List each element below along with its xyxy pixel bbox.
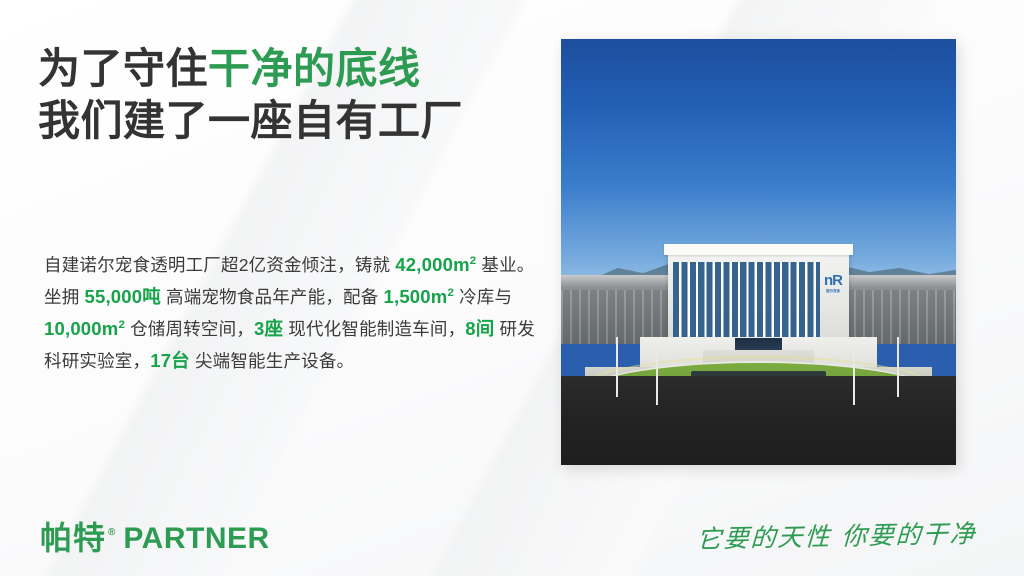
photo-building-logo-sub: 诺尔宠食 bbox=[822, 290, 844, 294]
photo-building-roof-cap bbox=[664, 244, 853, 255]
photo-building-logo-mark: nR bbox=[822, 273, 844, 288]
p2-text-g: 尖端智能生产设备。 bbox=[190, 351, 354, 371]
brand-logo: 帕特 ® PARTNER bbox=[40, 522, 270, 554]
body-paragraph-2: 坐拥 55,000吨 高端宠物食品年产能，配备 1,500m2 冷库与 10,0… bbox=[44, 281, 542, 377]
brand-tagline: 它要的天性 你要的干净 bbox=[696, 514, 978, 556]
page-title: 为了守住干净的底线 我们建了一座自有工厂 bbox=[38, 43, 538, 147]
stat-annual-capacity: 55,000吨 bbox=[84, 286, 160, 307]
photo-light-pole bbox=[853, 346, 855, 406]
photo-light-pole bbox=[616, 337, 618, 397]
stat-cold-storage: 1,500m2 bbox=[383, 286, 454, 307]
photo-light-pole bbox=[656, 346, 658, 406]
stat-warehouse-value: 10,000m bbox=[44, 318, 118, 339]
headline-line-1-plain: 为了守住 bbox=[38, 45, 208, 92]
headline-line-1: 为了守住干净的底线 bbox=[38, 43, 538, 95]
body-copy: 自建诺尔宠食透明工厂超2亿资金倾注，铸就 42,000m2 基业。 坐拥 55,… bbox=[44, 249, 542, 377]
brand-name-cn: 帕特 bbox=[40, 522, 106, 554]
photo-building-logo: nR 诺尔宠食 bbox=[822, 273, 844, 306]
photo-building-windows bbox=[673, 262, 820, 344]
factory-photo: nR 诺尔宠食 bbox=[561, 39, 956, 465]
stat-warehouse: 10,000m2 bbox=[44, 318, 125, 339]
stat-factory-area-value: 42,000m bbox=[395, 254, 469, 275]
p2-text-d: 仓储周转空间， bbox=[125, 319, 254, 339]
body-paragraph-1: 自建诺尔宠食透明工厂超2亿资金倾注，铸就 42,000m2 基业。 bbox=[44, 249, 542, 281]
p2-text-e: 现代化智能制造车间， bbox=[283, 319, 465, 339]
photo-warehouse-right bbox=[845, 275, 956, 343]
photo-warehouse-left bbox=[561, 275, 680, 343]
photo-light-pole bbox=[897, 337, 899, 397]
p2-text-c: 冷库与 bbox=[454, 287, 512, 307]
stat-cold-storage-value: 1,500m bbox=[383, 286, 447, 307]
photo-office-building: nR 诺尔宠食 bbox=[668, 250, 850, 348]
registered-trademark-icon: ® bbox=[108, 528, 115, 538]
stat-workshops: 3座 bbox=[254, 318, 283, 339]
headline-line-2: 我们建了一座自有工厂 bbox=[38, 95, 538, 147]
p2-text-b: 高端宠物食品年产能，配备 bbox=[161, 287, 384, 307]
p1-text-b: 基业。 bbox=[476, 255, 534, 275]
headline-line-1-highlight: 干净的底线 bbox=[208, 45, 421, 92]
slide-canvas: 为了守住干净的底线 我们建了一座自有工厂 自建诺尔宠食透明工厂超2亿资金倾注，铸… bbox=[0, 0, 1024, 576]
p1-text-a: 自建诺尔宠食透明工厂超2亿资金倾注，铸就 bbox=[44, 255, 395, 275]
stat-labs: 8间 bbox=[465, 318, 494, 339]
brand-name-en: PARTNER bbox=[123, 524, 269, 554]
stat-factory-area: 42,000m2 bbox=[395, 254, 476, 275]
p2-text-a: 坐拥 bbox=[44, 287, 84, 307]
stat-equipment: 17台 bbox=[150, 350, 190, 371]
